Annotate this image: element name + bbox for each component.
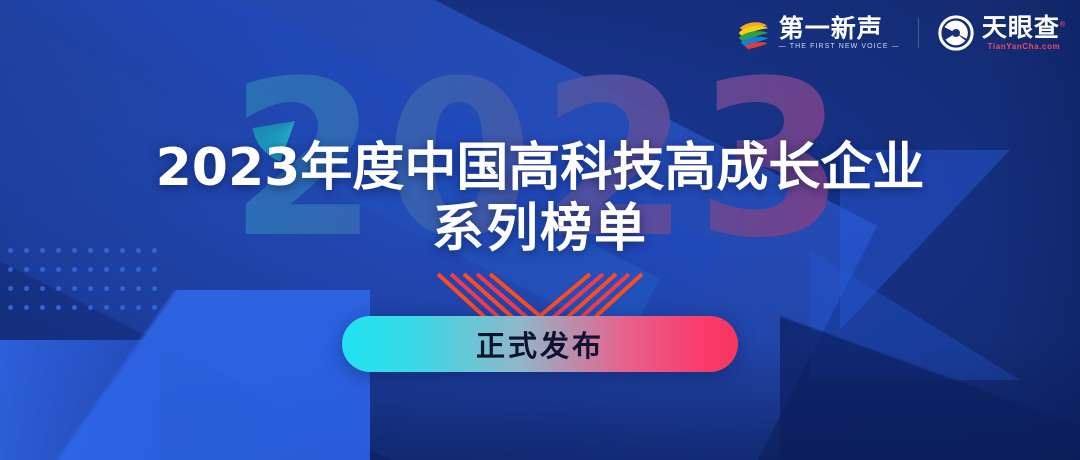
grid-dot (136, 267, 141, 272)
grid-dot (40, 286, 45, 291)
logo-divider (918, 18, 919, 48)
grid-dot (40, 305, 45, 310)
grid-dot (8, 286, 13, 291)
grid-dot (8, 267, 13, 272)
grid-dot (120, 305, 125, 310)
logo-diyi-xinsheng-name: 第一新声 (779, 16, 900, 42)
grid-dot (136, 305, 141, 310)
logo-diyi-xinsheng-text: 第一新声 — THE FIRST NEW VOICE — (779, 16, 900, 50)
grid-dot (72, 267, 77, 272)
grid-dot (152, 286, 157, 291)
logo-tianyancha-name: 天眼查® (982, 15, 1066, 41)
logo-tianyancha-domain: TianYanCha.com (982, 42, 1066, 51)
logo-tianyancha-name-cn: 天眼查 (982, 14, 1060, 42)
grid-dot (120, 267, 125, 272)
grid-dot (88, 305, 93, 310)
grid-dot (104, 286, 109, 291)
logo-diyi-xinsheng[interactable]: 第一新声 — THE FIRST NEW VOICE — (734, 14, 900, 52)
grid-dot (88, 267, 93, 272)
trademark-mark: ® (1060, 22, 1066, 29)
grid-dot (120, 286, 125, 291)
grid-dot (8, 305, 13, 310)
release-badge[interactable]: 正式发布 (342, 316, 738, 372)
grid-dot (72, 286, 77, 291)
grid-dot (88, 286, 93, 291)
logo-tianyancha-text: 天眼查® TianYanCha.com (982, 15, 1066, 51)
title-line-2: 系列榜单 (0, 199, 1080, 260)
release-badge-label: 正式发布 (476, 323, 604, 365)
grid-dot (24, 286, 29, 291)
grid-dot (104, 267, 109, 272)
swirl-globe-icon (734, 14, 772, 52)
title-line-1: 2023年度中国高科技高成长企业 (0, 138, 1080, 199)
grid-dot (56, 305, 61, 310)
grid-dot (40, 267, 45, 272)
grid-dot (56, 267, 61, 272)
grid-dot (104, 305, 109, 310)
grid-dot (152, 267, 157, 272)
aperture-eye-icon (937, 14, 975, 52)
grid-dot (72, 305, 77, 310)
title-block: 2023年度中国高科技高成长企业 系列榜单 (0, 138, 1080, 261)
grid-dot (56, 286, 61, 291)
grid-dot (152, 305, 157, 310)
grid-dot (136, 286, 141, 291)
logo-tianyancha[interactable]: 天眼查® TianYanCha.com (937, 14, 1066, 52)
grid-dot (24, 305, 29, 310)
logo-diyi-xinsheng-tagline: — THE FIRST NEW VOICE — (779, 43, 900, 50)
grid-dot (24, 267, 29, 272)
partner-logos: 第一新声 — THE FIRST NEW VOICE — 天眼查® TianYa… (734, 14, 1066, 52)
promo-banner: 2023 第一新声 — THE FIRST NEW VOICE — (0, 0, 1080, 460)
wedge-bottom-left-accent (0, 340, 160, 460)
